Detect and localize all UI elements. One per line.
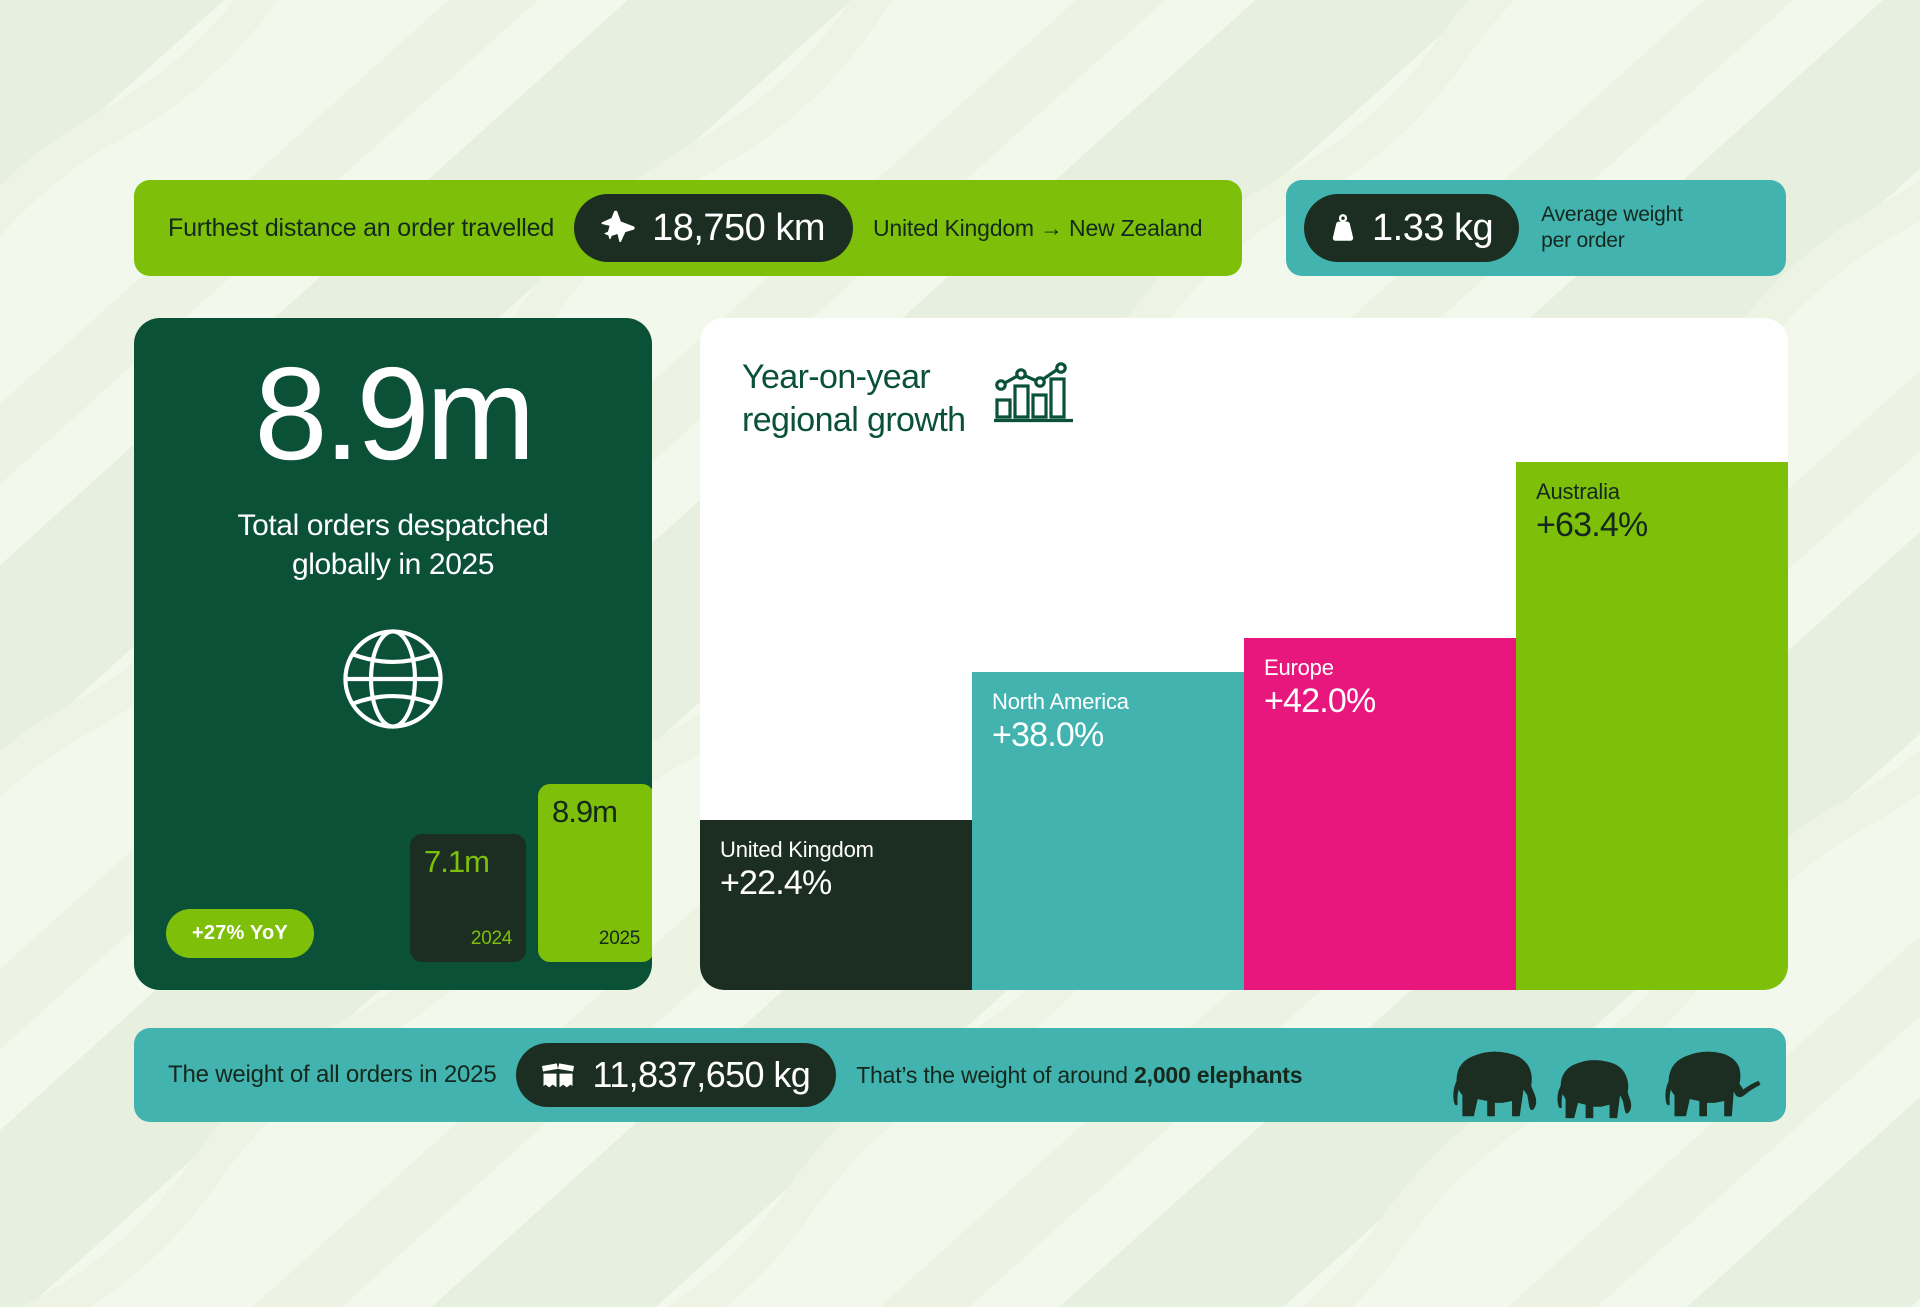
average-weight-caption: Average weight per order (1541, 202, 1683, 253)
bar-united-kingdom-label: United Kingdom (720, 838, 952, 862)
total-orders-card: 8.9m Total orders despatched globally in… (134, 318, 652, 990)
total-orders-value: 8.9m (134, 348, 652, 480)
mini-bar-2025-value: 8.9m (552, 796, 640, 827)
furthest-distance-banner: Furthest distance an order travelled 18,… (134, 180, 1242, 276)
bar-australia-value: +63.4% (1536, 504, 1768, 547)
elephant-note-prefix: That’s the weight of around (856, 1062, 1134, 1088)
elephant-note-count: 2,000 elephants (1134, 1062, 1302, 1088)
airplane-icon (598, 208, 638, 248)
regional-growth-chart-card: Year-on-year regional growth (700, 318, 1788, 990)
furthest-distance-pill: 18,750 km (574, 194, 853, 262)
total-weight-banner: The weight of all orders in 2025 11,837,… (134, 1028, 1786, 1122)
average-weight-value: 1.33 kg (1372, 207, 1493, 250)
mini-bar-2024-year: 2024 (424, 928, 512, 950)
furthest-distance-label: Furthest distance an order travelled (168, 214, 554, 243)
regional-growth-bars: United Kingdom +22.4% North America +38.… (700, 318, 1788, 990)
total-weight-pill: 11,837,650 kg (516, 1043, 836, 1107)
average-weight-banner: 1.33 kg Average weight per order (1286, 180, 1786, 276)
bar-north-america: North America +38.0% (972, 672, 1244, 990)
bar-north-america-value: +38.0% (992, 714, 1224, 757)
bar-united-kingdom: United Kingdom +22.4% (700, 820, 972, 990)
bar-europe-value: +42.0% (1264, 680, 1496, 723)
average-weight-pill: 1.33 kg (1304, 194, 1519, 262)
total-weight-label: The weight of all orders in 2025 (168, 1061, 496, 1089)
bar-europe: Europe +42.0% (1244, 638, 1516, 990)
mini-bar-2025: 8.9m 2025 (538, 784, 652, 962)
globe-icon (332, 618, 454, 745)
total-weight-value: 11,837,650 kg (592, 1054, 810, 1096)
mini-bar-2024: 7.1m 2024 (410, 834, 526, 962)
bar-north-america-label: North America (992, 690, 1224, 714)
open-box-icon (538, 1055, 578, 1095)
furthest-distance-value: 18,750 km (652, 207, 825, 250)
bar-australia-label: Australia (1536, 480, 1768, 504)
elephant-silhouettes (1449, 1036, 1764, 1122)
elephant-comparison-note: That’s the weight of around 2,000 elepha… (856, 1062, 1302, 1089)
bar-united-kingdom-value: +22.4% (720, 862, 952, 905)
furthest-distance-route: United Kingdom → New Zealand (873, 215, 1202, 242)
bar-europe-label: Europe (1264, 656, 1496, 680)
mini-bar-2024-value: 7.1m (424, 846, 512, 877)
yoy-growth-badge: +27% YoY (166, 909, 314, 958)
weight-icon (1326, 211, 1360, 245)
mini-bar-2025-year: 2025 (552, 928, 640, 950)
bar-australia: Australia +63.4% (1516, 462, 1788, 990)
total-orders-subtitle: Total orders despatched globally in 2025 (134, 506, 652, 584)
